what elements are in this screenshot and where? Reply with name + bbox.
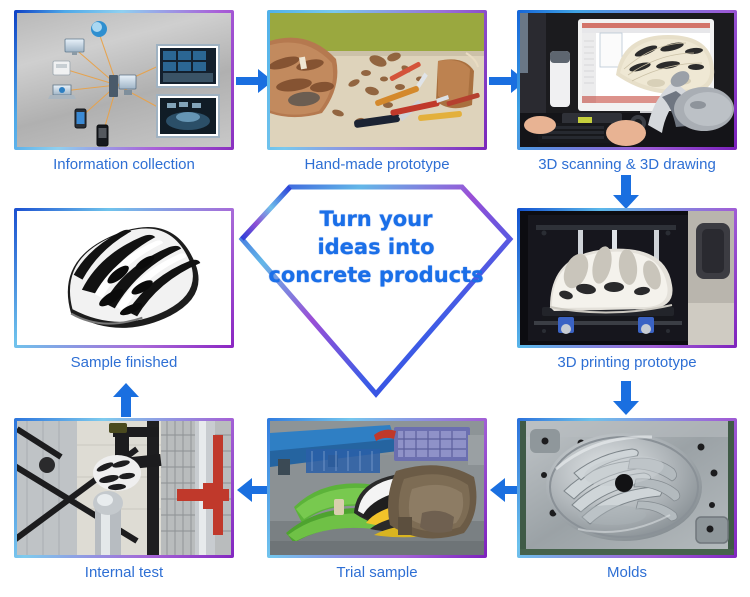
step-caption: 3D scanning & 3D drawing xyxy=(517,156,737,174)
step-caption: Information collection xyxy=(14,156,234,174)
step-caption: 3D printing prototype xyxy=(517,354,737,372)
arrow-up-7 xyxy=(113,383,139,417)
step-3d-printing-prototype[interactable]: 3D printing prototype xyxy=(517,208,737,372)
diamond-line-2: ideas into xyxy=(238,233,514,261)
step-internal-test[interactable]: Internal test xyxy=(14,418,234,582)
scene-cad-monitor-scanner: LG xyxy=(520,13,734,147)
step-image-frame xyxy=(267,10,487,150)
step-3d-scanning-drawing[interactable]: LG xyxy=(517,10,737,174)
step-information-collection[interactable]: Information collection xyxy=(14,10,234,174)
arrow-down-3 xyxy=(613,175,639,209)
step-image-frame xyxy=(267,418,487,558)
scene-finished-helmet xyxy=(17,211,231,345)
step-image-frame xyxy=(517,418,737,558)
step-caption: Sample finished xyxy=(14,354,234,372)
scene-trial-helmet-mold xyxy=(270,421,484,555)
step-sample-finished[interactable]: Sample finished xyxy=(14,208,234,372)
network-diagram-art xyxy=(17,13,231,147)
scene-aluminium-mold xyxy=(520,421,734,555)
step-caption: Hand-made prototype xyxy=(267,156,487,174)
step-image-frame xyxy=(14,418,234,558)
step-image-frame: LG xyxy=(517,10,737,150)
diamond-text: Turn your ideas into concrete products xyxy=(238,205,514,289)
step-image-frame xyxy=(14,10,234,150)
step-hand-made-prototype[interactable]: Hand-made prototype xyxy=(267,10,487,174)
step-caption: Molds xyxy=(517,564,737,582)
trial-helmet-mold-art xyxy=(270,421,484,555)
aluminium-mold-art xyxy=(520,421,734,555)
scene-impact-test-rig xyxy=(17,421,231,555)
diamond-line-1: Turn your xyxy=(238,205,514,233)
center-diamond-callout: Turn your ideas into concrete products xyxy=(238,183,514,398)
step-molds[interactable]: Molds xyxy=(517,418,737,582)
scene-3d-printer-helmet xyxy=(520,211,734,345)
step-image-frame xyxy=(14,208,234,348)
diamond-line-3: concrete products xyxy=(238,261,514,289)
scene-carving-workbench xyxy=(270,13,484,147)
step-caption: Trial sample xyxy=(267,564,487,582)
arrow-down-4 xyxy=(613,381,639,415)
step-image-frame xyxy=(517,208,737,348)
impact-test-rig-art xyxy=(17,421,231,555)
scene-network-diagram xyxy=(17,13,231,147)
3d-printer-helmet-art xyxy=(520,211,734,345)
carving-workbench-art xyxy=(270,13,484,147)
step-caption: Internal test xyxy=(14,564,234,582)
cad-monitor-scanner-art: LG xyxy=(520,13,734,147)
step-trial-sample[interactable]: Trial sample xyxy=(267,418,487,582)
finished-helmet-art xyxy=(17,211,231,345)
